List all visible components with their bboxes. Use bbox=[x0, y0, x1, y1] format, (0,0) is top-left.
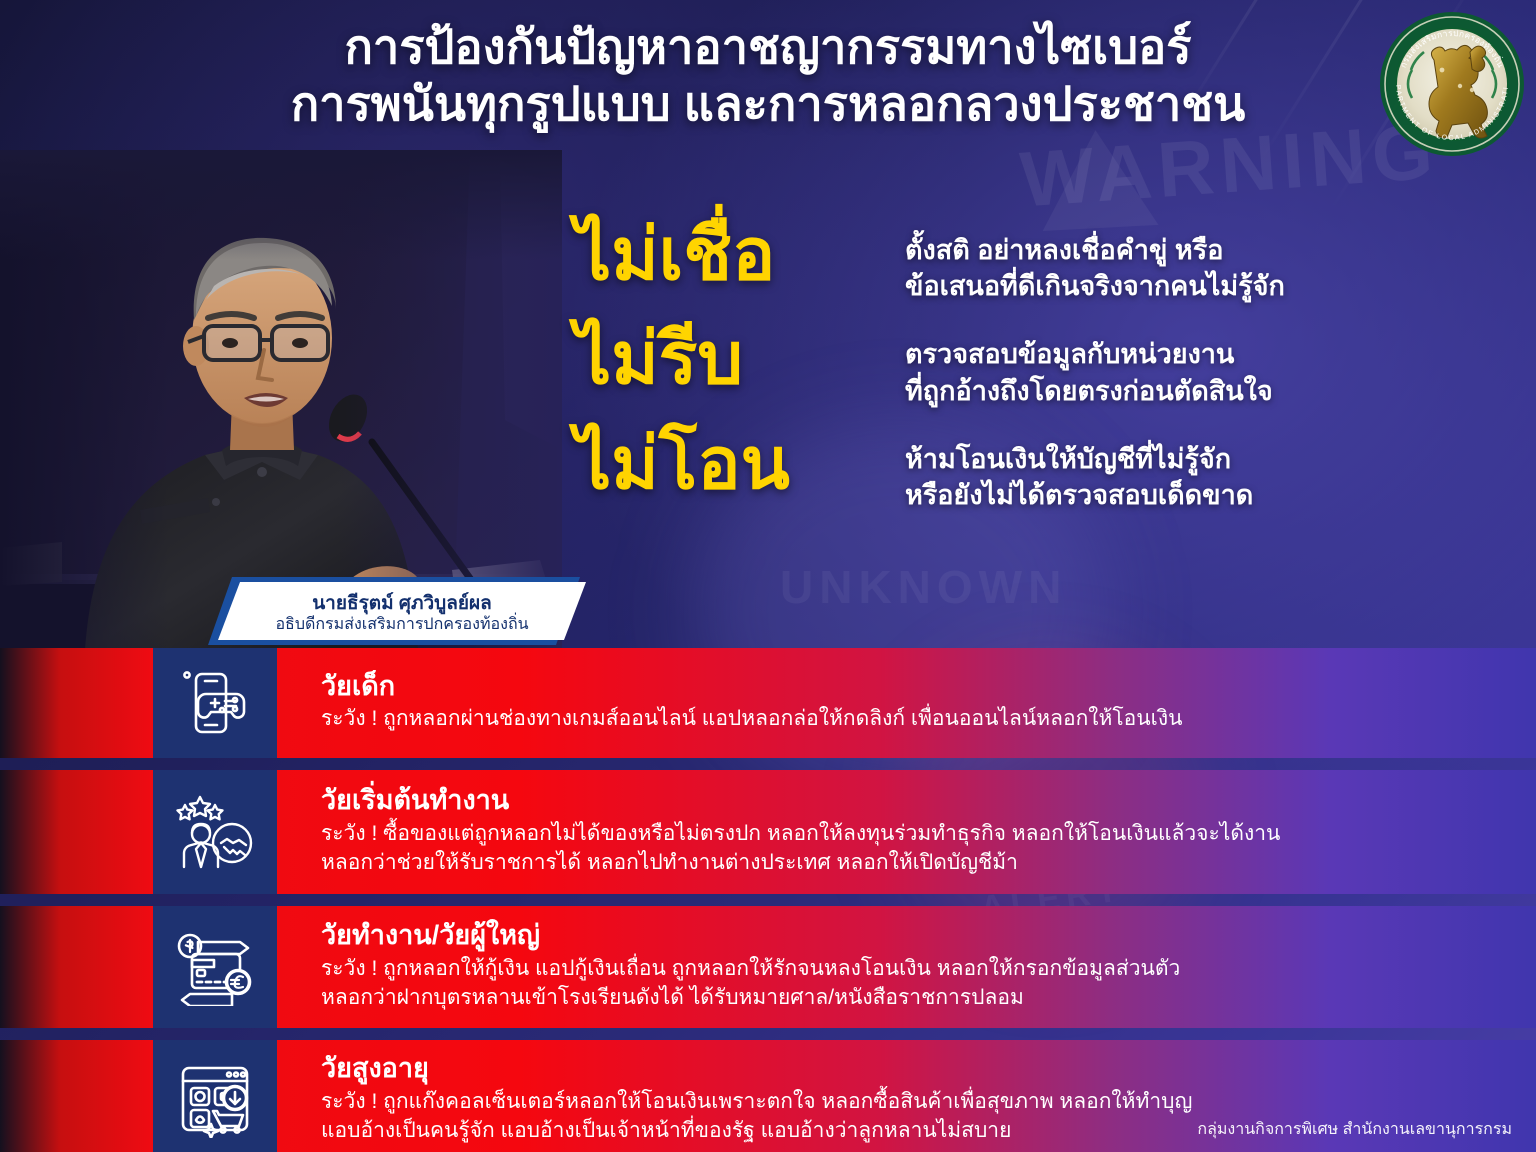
slogan-desc-3-line2: หรือยังไม่ได้ตรวจสอบเด็ดขาด bbox=[905, 477, 1515, 513]
slogan-desc-2-line1: ตรวจสอบข้อมูลกับหน่วยงาน bbox=[905, 336, 1515, 372]
slogan-desc-1-line1: ตั้งสติ อย่าหลงเชื่อคำขู่ หรือ bbox=[905, 232, 1515, 268]
row-title: วัยสูงอายุ bbox=[321, 1052, 1506, 1084]
department-seal-logo: กรมส่งเสริมการปกครองท้องถิ่น DEPARTMENT … bbox=[1376, 8, 1528, 160]
slogan-desc-1-line2: ข้อเสนอที่ดีเกินจริงจากคนไม่รู้จัก bbox=[905, 268, 1515, 304]
row-icon-box bbox=[153, 770, 277, 894]
slogan-key-2: ไม่รีบ bbox=[575, 318, 905, 402]
row-title: วัยเด็ก bbox=[321, 670, 1506, 702]
row-content: วัยเริ่มต้นทำงาน ระวัง ! ซื้อของแต่ถูกหล… bbox=[277, 770, 1536, 894]
slogan-item-2: ไม่รีบ ตรวจสอบข้อมูลกับหน่วยงาน ที่ถูกอ้… bbox=[575, 318, 1515, 408]
slogan-item-3: ไม่โอน ห้ามโอนเงินให้บัญชีที่ไม่รู้จัก ห… bbox=[575, 423, 1515, 513]
mobile-game-controller-icon bbox=[178, 666, 252, 740]
speaker-role: อธิบดีกรมส่งเสริมการปกครองท้องถิ่น bbox=[218, 612, 586, 637]
slogan-desc-2: ตรวจสอบข้อมูลกับหน่วยงาน ที่ถูกอ้างถึงโด… bbox=[905, 318, 1515, 408]
row-icon-box bbox=[153, 648, 277, 758]
row-line-2: หลอกว่าช่วยให้รับราชการได้ หลอกไปทำงานต่… bbox=[321, 849, 1506, 878]
page-title-line1: การป้องกันปัญหาอาชญากรรมทางไซเบอร์ bbox=[0, 18, 1536, 75]
slogan-desc-1: ตั้งสติ อย่าหลงเชื่อคำขู่ หรือ ข้อเสนอที… bbox=[905, 214, 1515, 304]
row-line-2: หลอกว่าฝากบุตรหลานเข้าโรงเรียนดังได้ ได้… bbox=[321, 984, 1506, 1013]
person-stars-handshake-icon bbox=[176, 793, 254, 871]
age-group-list: วัยเด็ก ระวัง ! ถูกหลอกผ่านช่องทางเกมส์อ… bbox=[0, 648, 1536, 1152]
row-icon-box bbox=[153, 1040, 277, 1152]
row-title: วัยทำงาน/วัยผู้ใหญ่ bbox=[321, 919, 1506, 951]
speaker-portrait bbox=[0, 150, 562, 650]
slogan-desc-3-line1: ห้ามโอนเงินให้บัญชีที่ไม่รู้จัก bbox=[905, 441, 1515, 477]
slogan-key-1: ไม่เชื่อ bbox=[575, 214, 905, 298]
row-title: วัยเริ่มต้นทำงาน bbox=[321, 784, 1506, 816]
age-group-row-working-adult: วัยทำงาน/วัยผู้ใหญ่ ระวัง ! ถูกหลอกให้กู… bbox=[0, 906, 1536, 1028]
online-shopping-browser-icon bbox=[177, 1062, 253, 1138]
slogan-item-1: ไม่เชื่อ ตั้งสติ อย่าหลงเชื่อคำขู่ หรือ … bbox=[575, 214, 1515, 304]
bg-word-unknown: UNKNOWN bbox=[780, 560, 1067, 614]
row-line-1: ระวัง ! ซื้อของแต่ถูกหลอกไม่ได้ของหรือไม… bbox=[321, 820, 1506, 849]
money-transfer-card-icon bbox=[176, 928, 254, 1006]
row-content: วัยทำงาน/วัยผู้ใหญ่ ระวัง ! ถูกหลอกให้กู… bbox=[277, 906, 1536, 1028]
slogan-desc-2-line2: ที่ถูกอ้างถึงโดยตรงก่อนตัดสินใจ bbox=[905, 373, 1515, 409]
page-title-line2: การพนันทุกรูปแบบ และการหลอกลวงประชาชน bbox=[0, 75, 1536, 132]
row-content: วัยเด็ก ระวัง ! ถูกหลอกผ่านช่องทางเกมส์อ… bbox=[277, 648, 1536, 758]
slogan-desc-3: ห้ามโอนเงินให้บัญชีที่ไม่รู้จัก หรือยังไ… bbox=[905, 423, 1515, 513]
infographic-canvas: WARNING UNKNOWN Deadline ALERT bbox=[0, 0, 1536, 1152]
row-line-1: ระวัง ! ถูกแก๊งคอลเซ็นเตอร์หลอกให้โอนเงิ… bbox=[321, 1088, 1506, 1117]
row-icon-box bbox=[153, 906, 277, 1028]
speaker-nameplate: นายธีรุตม์ ศุภวิบูลย์ผล อธิบดีกรมส่งเสริ… bbox=[218, 582, 586, 640]
age-group-row-early-career: วัยเริ่มต้นทำงาน ระวัง ! ซื้อของแต่ถูกหล… bbox=[0, 770, 1536, 894]
page-header: การป้องกันปัญหาอาชญากรรมทางไซเบอร์ การพน… bbox=[0, 18, 1536, 133]
row-line-1: ระวัง ! ถูกหลอกให้กู้เงิน แอปกู้เงินเถื่… bbox=[321, 955, 1506, 984]
row-line-1: ระวัง ! ถูกหลอกผ่านช่องทางเกมส์ออนไลน์ แ… bbox=[321, 705, 1506, 734]
footer-credit: กลุ่มงานกิจการพิเศษ สำนักงานเลขานุการกรม bbox=[1197, 1117, 1512, 1142]
page-title: การป้องกันปัญหาอาชญากรรมทางไซเบอร์ การพน… bbox=[0, 18, 1536, 133]
slogan-block: ไม่เชื่อ ตั้งสติ อย่าหลงเชื่อคำขู่ หรือ … bbox=[575, 214, 1515, 513]
portrait-illustration bbox=[0, 150, 562, 650]
age-group-row-child: วัยเด็ก ระวัง ! ถูกหลอกผ่านช่องทางเกมส์อ… bbox=[0, 648, 1536, 758]
slogan-key-3: ไม่โอน bbox=[575, 423, 905, 507]
